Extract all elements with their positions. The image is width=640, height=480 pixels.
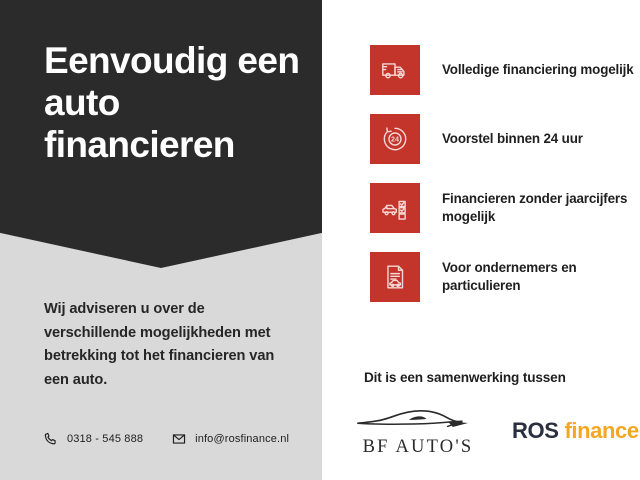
partner-logo-row: BF AUTO'S ROS finance [348, 402, 640, 460]
feature-item: Voor ondernemers en particulieren [370, 252, 636, 302]
feature-label: Voor ondernemers en particulieren [442, 259, 636, 295]
contact-row: 0318 - 545 888 info@rosfinance.nl [44, 432, 289, 446]
car-checklist-icon [380, 193, 410, 223]
feature-icon-tile: 24 [370, 114, 420, 164]
feature-icon-tile [370, 183, 420, 233]
car-silhouette-icon [354, 405, 482, 436]
feature-icon-tile [370, 252, 420, 302]
feature-label: Volledige financiering mogelijk [442, 61, 634, 79]
contact-email[interactable]: info@rosfinance.nl [172, 432, 289, 446]
feature-icon-tile [370, 45, 420, 95]
svg-text:24: 24 [391, 136, 399, 144]
clock-24-icon: 24 [380, 124, 410, 154]
email-address: info@rosfinance.nl [195, 433, 289, 445]
feature-list: Volledige financiering mogelijk 24 Voors… [370, 45, 636, 321]
bf-autos-wordmark: BF AUTO'S [363, 437, 474, 458]
finance-wordmark: finance [564, 418, 638, 444]
left-column: Eenvoudig een auto financieren Wij advis… [0, 0, 322, 480]
right-column: Volledige financiering mogelijk 24 Voors… [322, 0, 640, 480]
feature-label: Voorstel binnen 24 uur [442, 130, 583, 148]
hero-subcopy: Wij adviseren u over de verschillende mo… [44, 298, 296, 393]
ros-finance-logo: ROS finance [512, 418, 639, 444]
phone-icon [44, 432, 58, 446]
phone-number: 0318 - 545 888 [67, 433, 143, 445]
document-car-icon [380, 262, 410, 292]
promo-banner: Eenvoudig een auto financieren Wij advis… [0, 0, 640, 480]
page-title: Eenvoudig een auto financieren [44, 40, 304, 165]
feature-item: Volledige financiering mogelijk [370, 45, 636, 95]
van-icon [380, 55, 410, 85]
contact-phone[interactable]: 0318 - 545 888 [44, 432, 143, 446]
mail-icon [172, 432, 186, 446]
feature-label: Financieren zonder jaarcijfers mogelijk [442, 190, 636, 226]
feature-item: Financieren zonder jaarcijfers mogelijk [370, 183, 636, 233]
feature-item: 24 Voorstel binnen 24 uur [370, 114, 636, 164]
bf-autos-logo: BF AUTO'S [348, 405, 488, 458]
partnership-heading: Dit is een samenwerking tussen [364, 370, 634, 385]
ros-wordmark: ROS [512, 418, 558, 444]
